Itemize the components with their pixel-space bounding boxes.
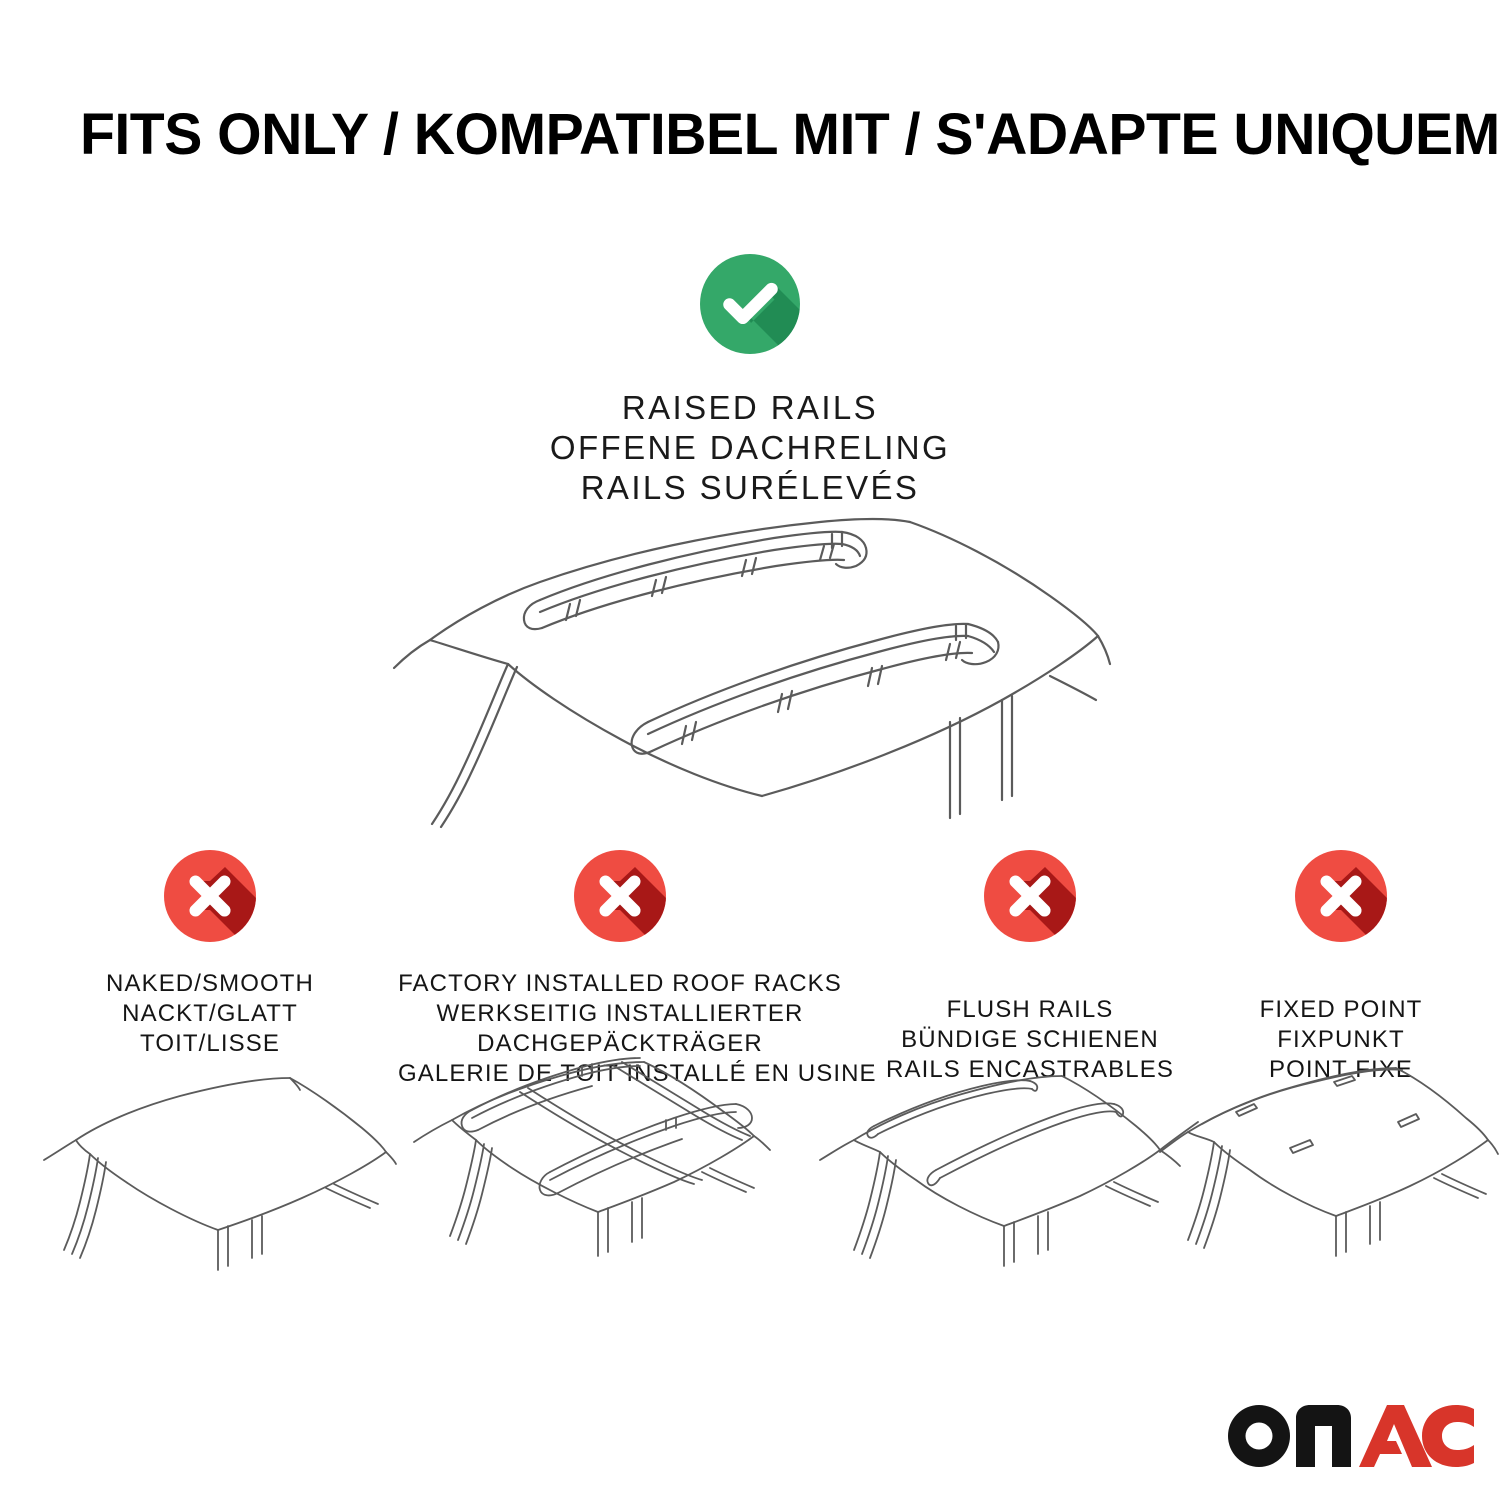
car-roof-raised-rails-illustration <box>390 500 1110 830</box>
caption-line-2: FIXPUNKT <box>1208 1025 1474 1055</box>
cross-circle-icon <box>162 848 258 944</box>
incompatible-caption: NAKED/SMOOTH NACKT/GLATT TOIT/LISSE <box>58 969 362 1059</box>
compatible-caption: RAISED RAILS OFFENE DACHRELING RAILS SUR… <box>0 388 1500 508</box>
compatible-line-en: RAISED RAILS <box>0 388 1500 428</box>
incompatible-column-naked-smooth: NAKED/SMOOTH NACKT/GLATT TOIT/LISSE <box>58 848 362 1059</box>
logo-letter-o <box>1228 1405 1290 1467</box>
caption-line-3: DACHGEPÄCKTRÄGER <box>398 1029 842 1059</box>
caption-line-1: FIXED POINT <box>1208 995 1474 1025</box>
car-roof-fixed-point-illustration <box>1158 1060 1500 1280</box>
cross-circle-icon <box>982 848 1078 944</box>
compatible-section: RAISED RAILS OFFENE DACHRELING RAILS SUR… <box>0 252 1500 508</box>
caption-line-2: NACKT/GLATT <box>58 999 362 1029</box>
caption-line-2: WERKSEITIG INSTALLIERTER <box>398 999 842 1029</box>
caption-line-1: NAKED/SMOOTH <box>58 969 362 999</box>
caption-line-1: FLUSH RAILS <box>858 995 1202 1025</box>
cross-circle-icon <box>1293 848 1389 944</box>
omac-logo <box>1228 1404 1474 1468</box>
page-title: FITS ONLY / KOMPATIBEL MIT / S'ADAPTE UN… <box>80 104 1405 166</box>
incompatible-column-flush-rails: FLUSH RAILS BÜNDIGE SCHIENEN RAILS ENCAS… <box>858 848 1202 1085</box>
logo-letter-a <box>1359 1405 1432 1467</box>
caption-line-2: BÜNDIGE SCHIENEN <box>858 1025 1202 1055</box>
logo-letter-m <box>1296 1405 1351 1467</box>
car-roof-naked-smooth-illustration <box>40 1060 400 1280</box>
incompatible-column-factory-racks: FACTORY INSTALLED ROOF RACKS WERKSEITIG … <box>398 848 842 1089</box>
car-roof-factory-racks-illustration <box>408 1060 792 1280</box>
caption-line-1: FACTORY INSTALLED ROOF RACKS <box>398 969 842 999</box>
logo-letter-c <box>1422 1405 1474 1467</box>
caption-line-3: TOIT/LISSE <box>58 1029 362 1059</box>
incompatible-column-fixed-point: FIXED POINT FIXPUNKT POINT FIXE <box>1208 848 1474 1085</box>
cross-circle-icon <box>572 848 668 944</box>
car-roof-flush-rails-illustration <box>818 1060 1202 1280</box>
check-circle-icon <box>698 252 802 356</box>
compatible-line-de: OFFENE DACHRELING <box>0 428 1500 468</box>
